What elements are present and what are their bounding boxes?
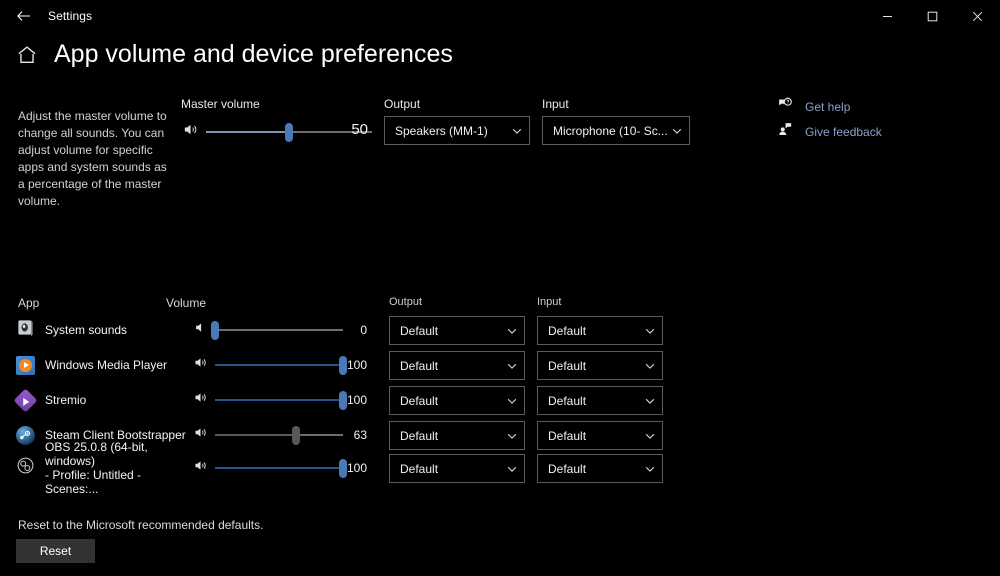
- app-volume-slider[interactable]: [215, 423, 343, 447]
- app-input-dropdown[interactable]: Default: [537, 421, 663, 450]
- give-feedback-link[interactable]: Give feedback: [777, 121, 882, 142]
- app-row: Windows Media Player 100 Default Default: [0, 348, 1000, 382]
- minimize-button[interactable]: [865, 0, 910, 32]
- input-label: Input: [542, 97, 569, 111]
- app-output-dropdown[interactable]: Default: [389, 454, 525, 483]
- app-name: Windows Media Player: [45, 358, 167, 372]
- app-volume-slider-row: [193, 451, 343, 485]
- master-volume-value: 50: [340, 121, 368, 138]
- slider-fill: [206, 131, 289, 133]
- speaker-waves-icon: [193, 390, 208, 410]
- speaker-waves-icon: [193, 425, 208, 445]
- input-device-value: Microphone (10- Sc...: [553, 124, 667, 138]
- stremio-icon: [16, 391, 35, 410]
- app-volume-value: 100: [343, 383, 367, 417]
- app-row: OBS 25.0.8 (64-bit, windows)- Profile: U…: [0, 451, 1000, 485]
- close-button[interactable]: [955, 0, 1000, 32]
- app-output-dropdown[interactable]: Default: [389, 316, 525, 345]
- page-header: App volume and device preferences: [16, 42, 453, 67]
- app-volume-slider[interactable]: [215, 353, 343, 377]
- chevron-down-icon: [644, 430, 656, 442]
- chevron-down-icon: [506, 395, 518, 407]
- app-volume-slider-row: [193, 348, 343, 382]
- app-input-value: Default: [548, 324, 640, 338]
- column-header-volume: Volume: [166, 296, 206, 310]
- chevron-down-icon: [506, 360, 518, 372]
- chevron-down-icon: [506, 430, 518, 442]
- speaker-waves-icon: [193, 458, 208, 478]
- app-volume-slider-row: [193, 383, 343, 417]
- app-output-dropdown[interactable]: Default: [389, 421, 525, 450]
- app-input-dropdown[interactable]: Default: [537, 351, 663, 380]
- reset-description: Reset to the Microsoft recommended defau…: [18, 518, 263, 532]
- app-input-dropdown[interactable]: Default: [537, 454, 663, 483]
- title-bar: Settings: [0, 0, 1000, 32]
- reset-button[interactable]: Reset: [16, 539, 95, 563]
- app-input-dropdown[interactable]: Default: [537, 386, 663, 415]
- output-label: Output: [384, 97, 420, 111]
- give-feedback-label: Give feedback: [805, 125, 882, 139]
- app-input-value: Default: [548, 394, 640, 408]
- slider-thumb[interactable]: [211, 321, 219, 340]
- slider-thumb[interactable]: [285, 123, 293, 142]
- chevron-down-icon: [644, 360, 656, 372]
- get-help-link[interactable]: Get help: [777, 96, 850, 117]
- app-identity: Windows Media Player: [16, 348, 186, 382]
- app-volume-slider[interactable]: [215, 456, 343, 480]
- app-input-value: Default: [548, 429, 640, 443]
- app-volume-slider[interactable]: [215, 318, 343, 342]
- app-output-value: Default: [400, 462, 502, 476]
- app-input-value: Default: [548, 462, 640, 476]
- windows-media-player-icon: [16, 356, 35, 375]
- app-row: Stremio 100 Default Default: [0, 383, 1000, 417]
- column-header-app: App: [18, 296, 39, 310]
- app-input-value: Default: [548, 359, 640, 373]
- slider-thumb[interactable]: [292, 426, 300, 445]
- speaker-waves-icon: [182, 121, 199, 143]
- app-identity: System sounds: [16, 313, 186, 347]
- app-volume-value: 100: [343, 348, 367, 382]
- app-output-value: Default: [400, 429, 502, 443]
- chevron-down-icon: [506, 463, 518, 475]
- app-name: System sounds: [45, 323, 127, 337]
- app-name: OBS 25.0.8 (64-bit, windows)- Profile: U…: [45, 440, 186, 496]
- app-output-value: Default: [400, 324, 502, 338]
- app-volume-value: 100: [343, 451, 367, 485]
- slider-fill: [215, 467, 343, 469]
- settings-window: Settings App volume and device preferenc…: [0, 0, 1000, 576]
- home-icon[interactable]: [16, 44, 38, 66]
- window-title: Settings: [48, 0, 92, 32]
- system-sounds-icon: [16, 318, 35, 342]
- app-identity: Stremio: [16, 383, 186, 417]
- chevron-down-icon: [644, 395, 656, 407]
- question-bubble-icon: [777, 96, 793, 117]
- slider-fill: [215, 434, 296, 436]
- description-text: Adjust the master volume to change all s…: [18, 108, 170, 210]
- output-device-value: Speakers (MM-1): [395, 124, 507, 138]
- maximize-button[interactable]: [910, 0, 955, 32]
- app-name: Stremio: [45, 393, 86, 407]
- speaker-muted-icon: [193, 320, 208, 340]
- column-header-output: Output: [389, 296, 422, 308]
- chevron-down-icon: [506, 325, 518, 337]
- page-title: App volume and device preferences: [54, 42, 453, 67]
- app-identity: OBS 25.0.8 (64-bit, windows)- Profile: U…: [16, 451, 186, 485]
- feedback-icon: [777, 121, 793, 142]
- app-row: System sounds 0 Default Default: [0, 313, 1000, 347]
- app-output-value: Default: [400, 359, 502, 373]
- chevron-down-icon: [644, 463, 656, 475]
- app-volume-value: 63: [343, 418, 367, 452]
- app-output-dropdown[interactable]: Default: [389, 351, 525, 380]
- speaker-waves-icon: [193, 355, 208, 375]
- output-device-dropdown[interactable]: Speakers (MM-1): [384, 116, 530, 145]
- app-input-dropdown[interactable]: Default: [537, 316, 663, 345]
- app-volume-slider-row: [193, 313, 343, 347]
- app-volume-slider-row: [193, 418, 343, 452]
- slider-track: [215, 329, 343, 331]
- app-volume-value: 0: [343, 313, 367, 347]
- steam-icon: [16, 426, 35, 445]
- obs-icon: [16, 456, 35, 480]
- slider-fill: [215, 399, 343, 401]
- back-button[interactable]: [4, 0, 44, 32]
- chevron-down-icon: [511, 125, 523, 137]
- app-output-dropdown[interactable]: Default: [389, 386, 525, 415]
- chevron-down-icon: [671, 125, 683, 137]
- chevron-down-icon: [644, 325, 656, 337]
- app-output-value: Default: [400, 394, 502, 408]
- get-help-label: Get help: [805, 100, 850, 114]
- app-volume-slider[interactable]: [215, 388, 343, 412]
- window-controls: [865, 0, 1000, 32]
- input-device-dropdown[interactable]: Microphone (10- Sc...: [542, 116, 690, 145]
- master-volume-label: Master volume: [181, 97, 260, 111]
- column-header-input: Input: [537, 296, 561, 308]
- slider-fill: [215, 364, 343, 366]
